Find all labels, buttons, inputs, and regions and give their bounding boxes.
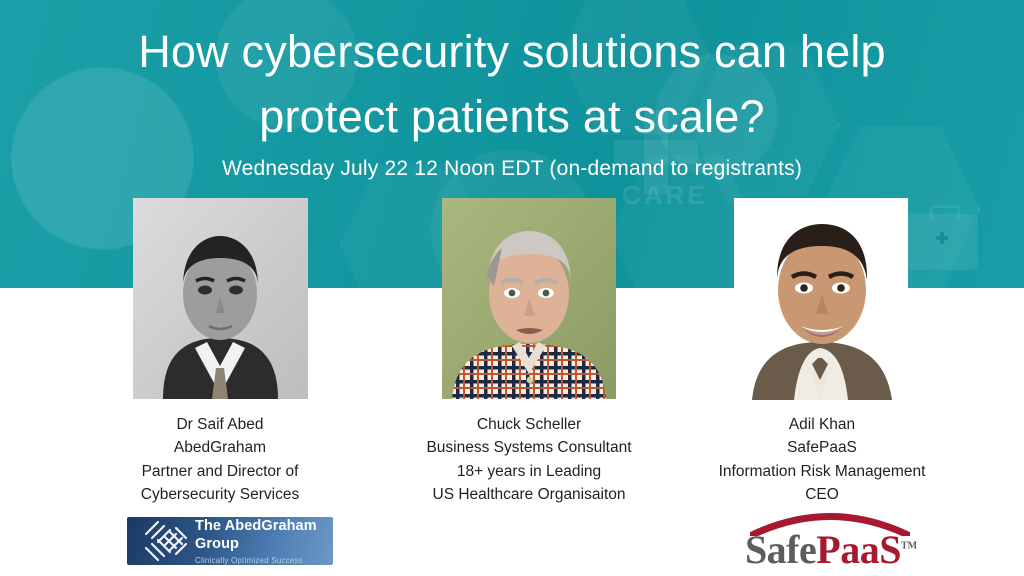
- safepaas-logo: SafePaaSTM: [736, 506, 926, 572]
- speaker-caption: Chuck Scheller Business Systems Consulta…: [369, 413, 689, 506]
- avatar: [442, 198, 616, 399]
- avatar: [734, 198, 908, 400]
- speaker-caption: Dr Saif Abed AbedGraham Partner and Dire…: [60, 413, 380, 506]
- event-datetime-subtitle: Wednesday July 22 12 Noon EDT (on-demand…: [0, 157, 1024, 181]
- avatar: [133, 198, 308, 399]
- abedgraham-logo-tagline: Clinically Optimized Success: [195, 556, 333, 565]
- safepaas-trademark: TM: [901, 541, 917, 552]
- safepaas-word-safe: Safe: [745, 527, 816, 572]
- abedgraham-logo-text: The AbedGraham Group Clinically Optimize…: [195, 517, 333, 565]
- abedgraham-logo: The AbedGraham Group Clinically Optimize…: [127, 517, 333, 565]
- safepaas-logo-text: SafePaaSTM: [736, 526, 926, 573]
- medical-bag-icon: [906, 214, 978, 270]
- safepaas-word-paas: PaaS: [816, 527, 901, 572]
- abedgraham-lattice-icon: [140, 520, 188, 562]
- page-title: How cybersecurity solutions can help pro…: [0, 20, 1024, 150]
- speaker-caption: Adil Khan SafePaaS Information Risk Mana…: [662, 413, 982, 506]
- care-watermark-text: CARE: [622, 180, 708, 211]
- abedgraham-logo-name: The AbedGraham Group: [195, 518, 317, 552]
